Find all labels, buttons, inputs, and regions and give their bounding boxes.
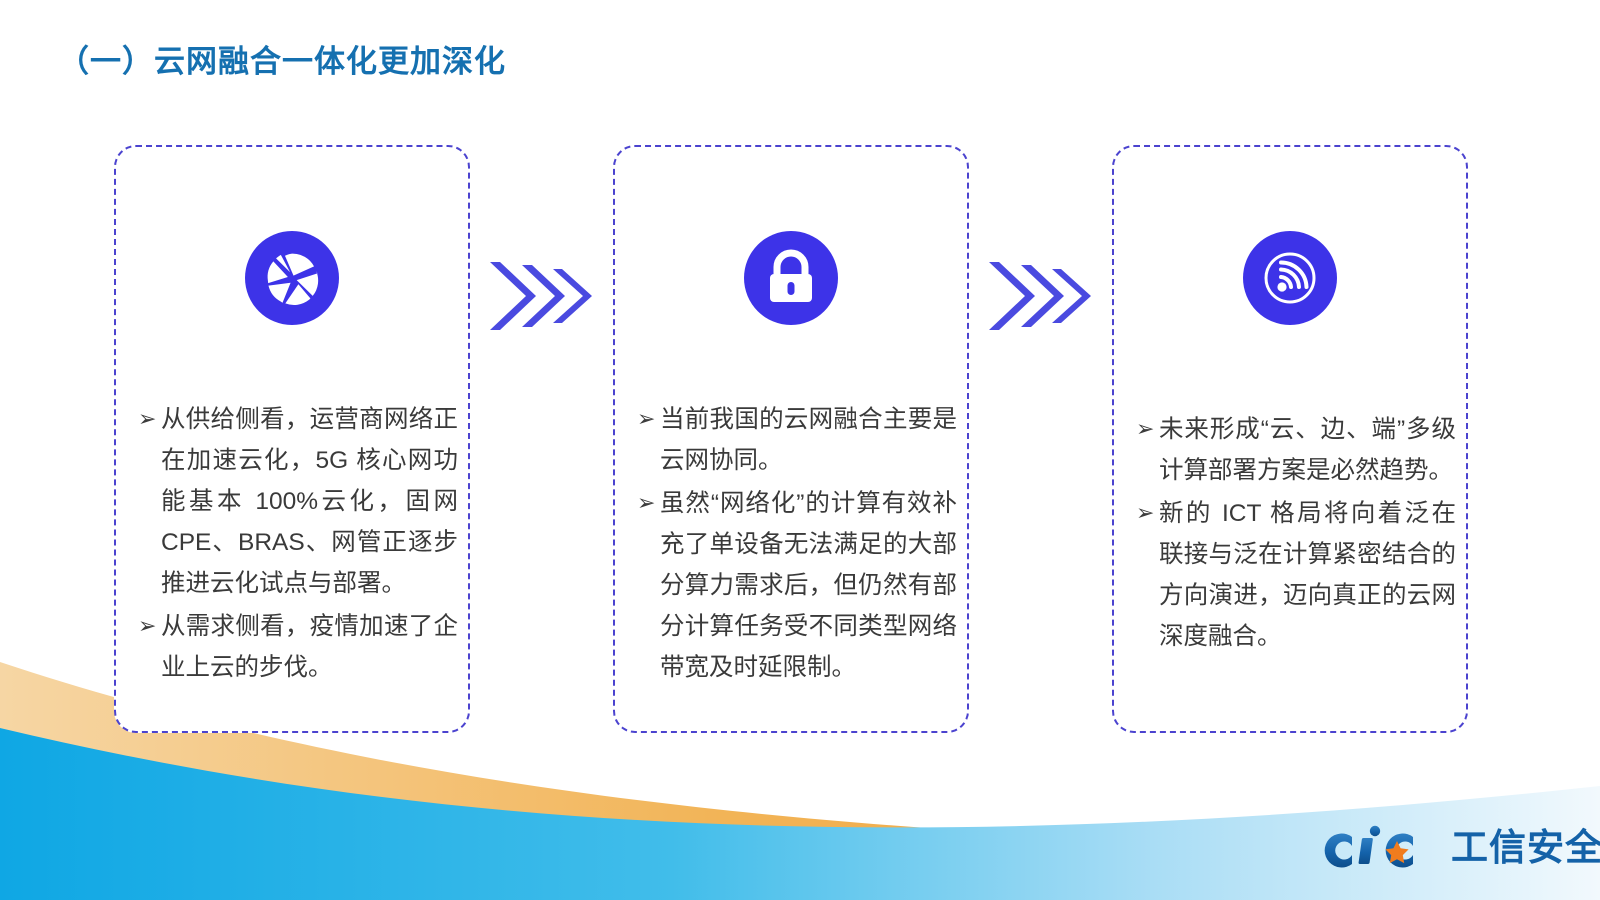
card-3-icon-wrap bbox=[1114, 231, 1466, 325]
bullet-arrow-icon: ➢ bbox=[130, 606, 161, 647]
bullet-arrow-icon: ➢ bbox=[1128, 493, 1159, 534]
brand-logo: 工信安全 bbox=[1312, 820, 1600, 876]
wifi-signal-icon bbox=[1243, 231, 1337, 325]
bullet-arrow-icon: ➢ bbox=[130, 399, 161, 440]
bullet-item: ➢ 当前我国的云网融合主要是云网协同。 bbox=[629, 399, 957, 481]
card-1-icon-wrap bbox=[116, 231, 468, 325]
bullet-item: ➢ 虽然“网络化”的计算有效补充了单设备无法满足的大部分算力需求后，但仍然有部分… bbox=[629, 483, 957, 688]
chevron-right-triple-icon bbox=[987, 256, 1097, 336]
bullet-arrow-icon: ➢ bbox=[629, 483, 660, 524]
bullet-item: ➢ 从需求侧看，疫情加速了企业上云的步伐。 bbox=[130, 606, 458, 688]
content-card-3: ➢ 未来形成“云、边、端”多级计算部署方案是必然趋势。 ➢ 新的 ICT 格局将… bbox=[1112, 145, 1468, 733]
bullet-item: ➢ 新的 ICT 格局将向着泛在联接与泛在计算紧密结合的方向演进，迈向真正的云网… bbox=[1128, 493, 1456, 657]
slide-canvas: （一）云网融合一体化更加深化 ➢ 从供给侧看， bbox=[0, 0, 1600, 900]
bullet-item: ➢ 未来形成“云、边、端”多级计算部署方案是必然趋势。 bbox=[1128, 409, 1456, 491]
logo-text: 工信安全 bbox=[1451, 824, 1600, 872]
chevron-right-triple-icon bbox=[488, 256, 598, 336]
card-2-body: ➢ 当前我国的云网融合主要是云网协同。 ➢ 虽然“网络化”的计算有效补充了单设备… bbox=[629, 399, 957, 723]
card-2-icon-wrap bbox=[615, 231, 967, 325]
content-card-2: ➢ 当前我国的云网融合主要是云网协同。 ➢ 虽然“网络化”的计算有效补充了单设备… bbox=[613, 145, 969, 733]
bullet-text: 未来形成“云、边、端”多级计算部署方案是必然趋势。 bbox=[1159, 409, 1456, 491]
cic-logo-icon bbox=[1312, 824, 1444, 872]
bullet-text: 当前我国的云网融合主要是云网协同。 bbox=[660, 399, 957, 481]
card-1-body: ➢ 从供给侧看，运营商网络正在加速云化，5G 核心网功能基本 100%云化，固网… bbox=[130, 399, 458, 723]
bullet-text: 从需求侧看，疫情加速了企业上云的步伐。 bbox=[161, 606, 458, 688]
card-3-body: ➢ 未来形成“云、边、端”多级计算部署方案是必然趋势。 ➢ 新的 ICT 格局将… bbox=[1128, 409, 1456, 723]
bullet-text: 新的 ICT 格局将向着泛在联接与泛在计算紧密结合的方向演进，迈向真正的云网深度… bbox=[1159, 493, 1456, 657]
bullet-text: 从供给侧看，运营商网络正在加速云化，5G 核心网功能基本 100%云化，固网 C… bbox=[161, 399, 458, 604]
bullet-text: 虽然“网络化”的计算有效补充了单设备无法满足的大部分算力需求后，但仍然有部分计算… bbox=[660, 483, 957, 688]
aperture-icon bbox=[245, 231, 339, 325]
bullet-arrow-icon: ➢ bbox=[1128, 409, 1159, 450]
page-title: （一）云网融合一体化更加深化 bbox=[58, 36, 506, 81]
lock-icon bbox=[744, 231, 838, 325]
bullet-arrow-icon: ➢ bbox=[629, 399, 660, 440]
content-card-1: ➢ 从供给侧看，运营商网络正在加速云化，5G 核心网功能基本 100%云化，固网… bbox=[114, 145, 470, 733]
bullet-item: ➢ 从供给侧看，运营商网络正在加速云化，5G 核心网功能基本 100%云化，固网… bbox=[130, 399, 458, 604]
